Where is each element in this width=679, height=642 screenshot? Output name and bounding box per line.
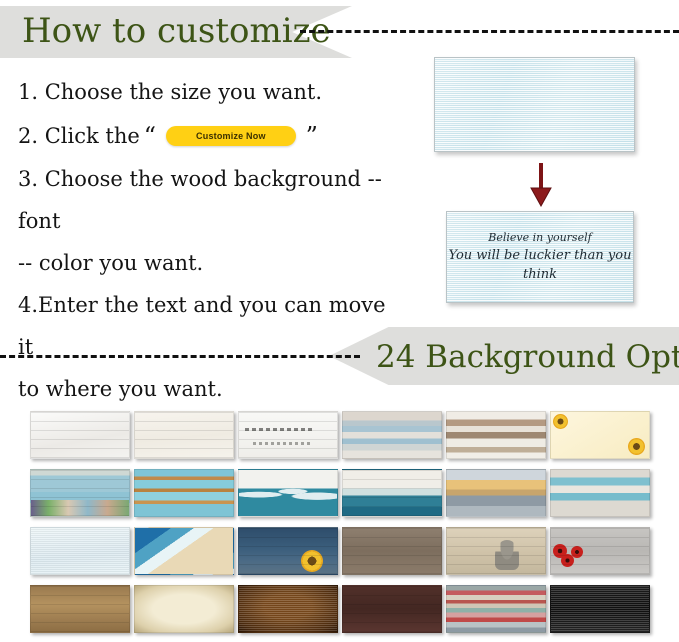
background-swatch[interactable]	[446, 585, 546, 633]
background-swatch[interactable]	[30, 585, 130, 633]
background-swatch[interactable]	[238, 469, 338, 517]
background-swatch-grid	[30, 411, 650, 633]
customize-now-button[interactable]: Customize Now	[166, 126, 296, 146]
foam-splash	[239, 485, 337, 501]
background-swatch[interactable]	[342, 527, 442, 575]
background-swatch[interactable]	[342, 585, 442, 633]
background-swatch[interactable]	[30, 527, 130, 575]
background-swatch[interactable]	[134, 585, 234, 633]
sunflower-icon	[301, 550, 323, 572]
step-2-prefix: 2. Click the	[18, 114, 140, 158]
sign-quote: Believe in yourself You will be luckier …	[447, 230, 633, 284]
sign-quote-line-2: You will be luckier than you think	[447, 246, 633, 284]
step-3-line-2: -- color you want.	[18, 242, 398, 284]
background-swatch[interactable]	[446, 411, 546, 459]
background-swatch[interactable]	[550, 411, 650, 459]
sunflower-icon	[553, 414, 568, 429]
open-quote: “	[144, 114, 156, 158]
dashed-connector-bottom	[0, 355, 360, 358]
step-4: 4.Enter the text and you can move it to …	[18, 284, 398, 410]
background-swatch[interactable]	[238, 585, 338, 633]
buddha-statue	[495, 540, 519, 570]
background-swatch[interactable]	[30, 411, 130, 459]
coral-reef	[31, 500, 129, 516]
script-text-mark	[245, 428, 315, 431]
background-swatch[interactable]	[134, 469, 234, 517]
background-swatch[interactable]	[238, 527, 338, 575]
blank-sign-preview	[434, 57, 635, 152]
background-swatch[interactable]	[550, 585, 650, 633]
background-swatch[interactable]	[30, 469, 130, 517]
customization-instructions-page: How to customize 1. Choose the size you …	[0, 0, 679, 642]
background-swatch[interactable]	[446, 527, 546, 575]
poppy-flower	[571, 546, 583, 558]
down-arrow-icon	[530, 163, 552, 207]
background-swatch[interactable]	[238, 411, 338, 459]
background-swatch[interactable]	[342, 469, 442, 517]
step-4-line-2: to where you want.	[18, 368, 398, 410]
background-swatch[interactable]	[342, 411, 442, 459]
sunflower-icon	[628, 438, 645, 455]
background-swatch[interactable]	[550, 527, 650, 575]
step-1: 1. Choose the size you want.	[18, 70, 398, 114]
sign-quote-line-1: Believe in yourself	[447, 230, 633, 246]
background-swatch[interactable]	[134, 527, 234, 575]
background-options-title: 24 Background Options	[376, 336, 679, 378]
step-3-line-1: 3. Choose the wood background -- font	[18, 158, 398, 242]
background-swatch[interactable]	[550, 469, 650, 517]
customized-sign-preview: Believe in yourself You will be luckier …	[446, 211, 634, 303]
background-swatch[interactable]	[446, 469, 546, 517]
script-text-mark	[253, 442, 311, 445]
page-title: How to customize	[22, 8, 331, 54]
background-swatch[interactable]	[134, 411, 234, 459]
step-3: 3. Choose the wood background -- font --…	[18, 158, 398, 284]
close-quote: ”	[306, 114, 318, 158]
dashed-connector-top	[300, 30, 679, 33]
step-2: 2. Click the “ Customize Now ”	[18, 114, 398, 158]
